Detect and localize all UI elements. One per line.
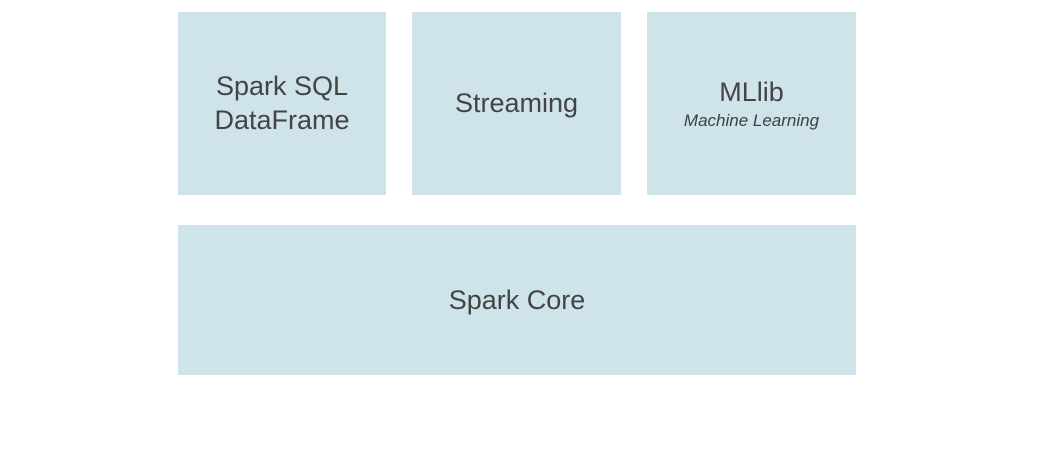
stack-box-mllib-title: MLlib xyxy=(719,76,784,109)
stack-box-spark-sql: Spark SQL DataFrame xyxy=(178,12,386,195)
stack-box-mllib-subtitle: Machine Learning xyxy=(684,111,819,132)
stack-box-streaming-title: Streaming xyxy=(455,87,578,120)
stack-box-mllib: MLlib Machine Learning xyxy=(647,12,856,195)
stack-box-spark-core-title: Spark Core xyxy=(449,284,586,317)
stack-box-streaming: Streaming xyxy=(412,12,621,195)
stack-box-spark-sql-title-line1: Spark SQL xyxy=(216,70,348,103)
spark-stack-diagram: Spark SQL DataFrame Streaming MLlib Mach… xyxy=(0,0,1053,457)
stack-box-spark-core: Spark Core xyxy=(178,225,856,375)
stack-box-spark-sql-title-line2: DataFrame xyxy=(214,104,349,137)
